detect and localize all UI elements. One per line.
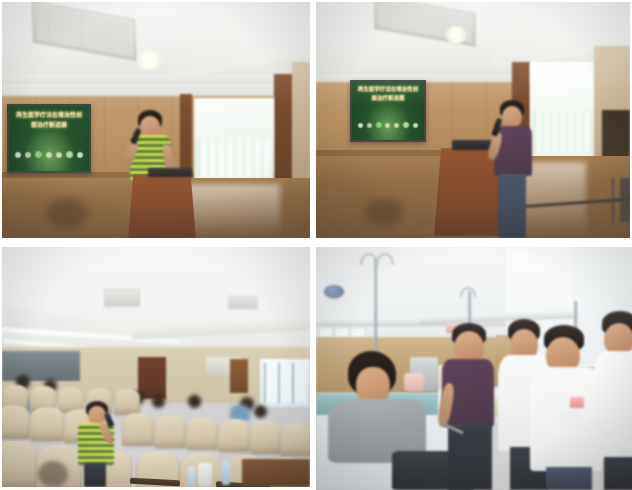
slide-title-line-1: 再生医学疗法在难治性创 <box>356 87 419 94</box>
doctor-white-coat-3-figure <box>594 311 632 490</box>
ceiling-ac-vent-icon <box>104 289 140 307</box>
slide-icon-5 <box>394 123 399 128</box>
slide-icon-2 <box>25 152 31 158</box>
slide-title-line-1: 再生医学疗法在难治性创 <box>14 113 84 121</box>
slide-icon-7 <box>413 123 418 128</box>
photo-top-right[interactable]: 再生医学疗法在难治性创 面治疗新进展 <box>316 2 630 238</box>
iv-pole <box>374 259 377 355</box>
water-bottle-2 <box>188 467 195 487</box>
slide-icon-1 <box>358 123 363 128</box>
slide-icon-row <box>15 151 82 158</box>
slide-icon-7 <box>77 152 83 158</box>
slide-icon-3 <box>376 122 382 128</box>
ceiling-ac-vent-icon-2 <box>228 295 258 309</box>
photo-top-left[interactable]: 再生医学疗法在难治性创 面治疗新进展 <box>2 2 310 238</box>
photo-collage: 再生医学疗法在难治性创 面治疗新进展 <box>0 0 632 490</box>
projection-screen: 再生医学疗法在难治性创 面治疗新进展 <box>350 80 426 142</box>
projection-screen: 再生医学疗法在难治性创 面治疗新进展 <box>7 104 91 173</box>
slide-icon-2 <box>367 123 372 128</box>
slide-title-line-2: 面治疗新进展 <box>356 96 419 103</box>
slide-icon-6 <box>403 122 409 128</box>
slide-icon-4 <box>46 152 52 158</box>
photo-bottom-right[interactable]: Group of doctors in white coats examinin… <box>316 247 632 490</box>
ceiling-downlight-icon <box>444 26 468 44</box>
slide-icon-row <box>358 122 419 128</box>
ceiling-downlight-icon <box>136 50 162 70</box>
water-bottle <box>222 461 230 485</box>
doctor-white-coat-3 <box>594 351 632 461</box>
slide-title-line-2: 面治疗新进展 <box>14 123 84 131</box>
slide-icon-6 <box>66 151 73 158</box>
doctor-badge <box>570 397 584 408</box>
slide-icon-1 <box>15 152 21 158</box>
laptop-icon <box>148 168 192 177</box>
room-number-sign <box>324 285 344 298</box>
slide-icon-5 <box>56 152 62 158</box>
slide-icon-4 <box>385 123 390 128</box>
tripod-stand <box>612 178 630 222</box>
podium <box>128 174 196 238</box>
slide-icon-3 <box>35 151 42 158</box>
presenter-figure <box>488 100 544 238</box>
presenter-figure <box>72 401 122 487</box>
photo-bottom-left[interactable]: Presenter with microphone standing among… <box>2 247 310 487</box>
tea-flask <box>198 463 212 487</box>
